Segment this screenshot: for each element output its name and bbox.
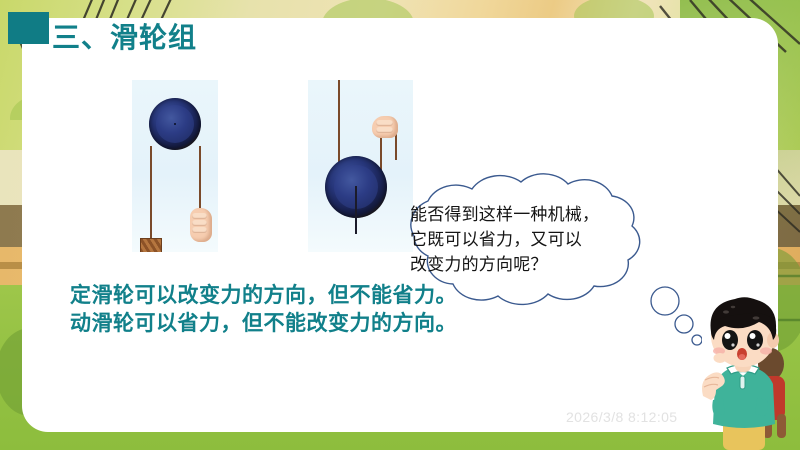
thinking-boy-character xyxy=(693,288,800,450)
fixed-pulley-hand xyxy=(190,208,212,242)
fixed-pulley-left-rope xyxy=(150,146,152,238)
thought-bubble: 能否得到这样一种机械， 它既可以省力，又可以 改变力的方向呢？ xyxy=(372,172,702,362)
thought-line-2: 它既可以省力，又可以 xyxy=(410,227,672,252)
fixed-pulley-figure xyxy=(132,80,218,252)
movable-pulley-anchor-rope xyxy=(338,80,340,162)
boy-right-eye xyxy=(747,330,763,350)
timestamp-watermark: 2026/3/8 8:12:05 xyxy=(566,409,678,425)
thought-line-1: 能否得到这样一种机械， xyxy=(410,202,672,227)
boy-left-eye xyxy=(722,330,738,350)
slide-root: 三、滑轮组 xyxy=(0,0,800,450)
page-title: 三、滑轮组 xyxy=(52,16,197,56)
fixed-pulley-wheel xyxy=(149,98,201,150)
movable-pulley-load-rope xyxy=(355,186,357,234)
movable-pulley-hand xyxy=(372,116,398,138)
thought-line-3: 改变力的方向呢？ xyxy=(410,252,672,277)
thought-bubble-text: 能否得到这样一种机械， 它既可以省力，又可以 改变力的方向呢？ xyxy=(410,202,672,277)
square-marker-icon xyxy=(8,12,49,44)
fixed-pulley-weight-block xyxy=(140,238,162,252)
